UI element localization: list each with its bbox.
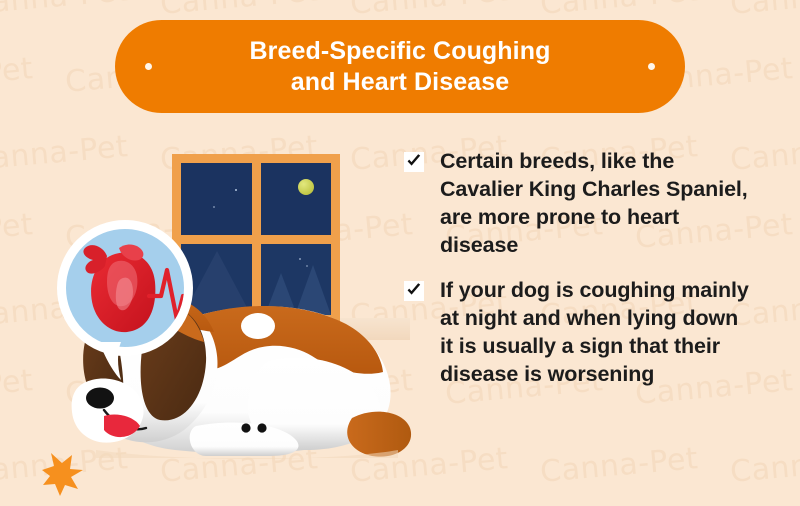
list-item: If your dog is coughing mainly at night … bbox=[404, 277, 756, 389]
banner-dot-right-icon bbox=[648, 63, 655, 70]
watermark-text: Canna-Pet bbox=[539, 441, 700, 490]
banner-dot-left-icon bbox=[145, 63, 152, 70]
watermark-text: Canna-Pet bbox=[729, 441, 800, 490]
moon-icon bbox=[298, 179, 314, 195]
star-icon bbox=[213, 206, 215, 208]
heart-bubble-contents bbox=[57, 220, 193, 356]
checkmark-icon bbox=[404, 152, 424, 172]
page-title: Breed-Specific Coughing and Heart Diseas… bbox=[250, 36, 551, 97]
bullet-list: Certain breeds, like the Cavalier King C… bbox=[404, 148, 756, 406]
list-item-label: Certain breeds, like the Cavalier King C… bbox=[440, 148, 756, 260]
watermark-text: Canna-Pet bbox=[729, 0, 800, 22]
watermark-text: Canna-Pet bbox=[0, 0, 130, 22]
infographic-canvas: Canna-PetCanna-PetCanna-PetCanna-PetCann… bbox=[0, 0, 800, 506]
cough-burst-icon bbox=[38, 450, 86, 498]
list-item: Certain breeds, like the Cavalier King C… bbox=[404, 148, 756, 260]
heart-speech-bubble bbox=[57, 220, 193, 356]
window-pane-top-right bbox=[261, 163, 332, 235]
bubble-tail bbox=[87, 338, 147, 384]
watermark-text: Canna-Pet bbox=[0, 51, 35, 100]
watermark-text: Canna-Pet bbox=[159, 0, 320, 22]
title-banner: Breed-Specific Coughing and Heart Diseas… bbox=[115, 20, 685, 113]
star-icon bbox=[235, 189, 237, 191]
list-item-label: If your dog is coughing mainly at night … bbox=[440, 277, 756, 389]
checkmark-icon bbox=[404, 281, 424, 301]
illustration-scene bbox=[0, 120, 420, 506]
watermark-text: Canna-Pet bbox=[539, 0, 700, 22]
watermark-text: Canna-Pet bbox=[349, 0, 510, 22]
